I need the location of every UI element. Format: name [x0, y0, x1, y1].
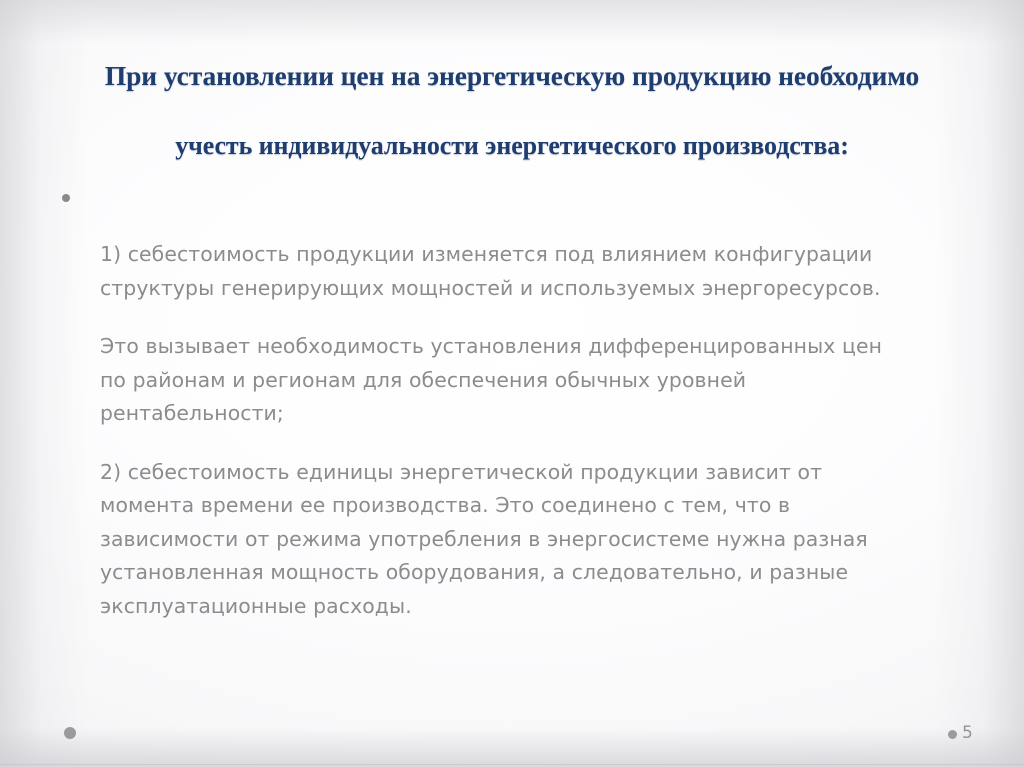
slide-number: 5	[962, 723, 973, 743]
bullet-icon-bottom	[64, 727, 76, 739]
body-paragraph-3: 2) себестоимость единицы энергетической …	[100, 456, 900, 624]
slide-title-line-2: учесть индивидуальности энергетического …	[54, 111, 970, 181]
slide-bottom-edge-shading	[0, 727, 1024, 767]
slide-top-edge-shading	[0, 0, 1024, 44]
bullet-icon-top	[62, 194, 70, 202]
slide-bottom-hairline	[0, 764, 1024, 765]
slide-title-line-1: При установлении цен на энергетическую п…	[54, 41, 970, 111]
slide-body: 1) себестоимость продукции изменяется по…	[100, 238, 900, 623]
body-paragraph-2: Это вызывает необходимость установления …	[100, 330, 900, 431]
presentation-slide: При установлении цен на энергетическую п…	[0, 0, 1024, 767]
slide-title: При установлении цен на энергетическую п…	[54, 41, 970, 181]
bullet-icon-slide-number	[948, 730, 957, 739]
body-paragraph-1: 1) себестоимость продукции изменяется по…	[100, 238, 900, 305]
